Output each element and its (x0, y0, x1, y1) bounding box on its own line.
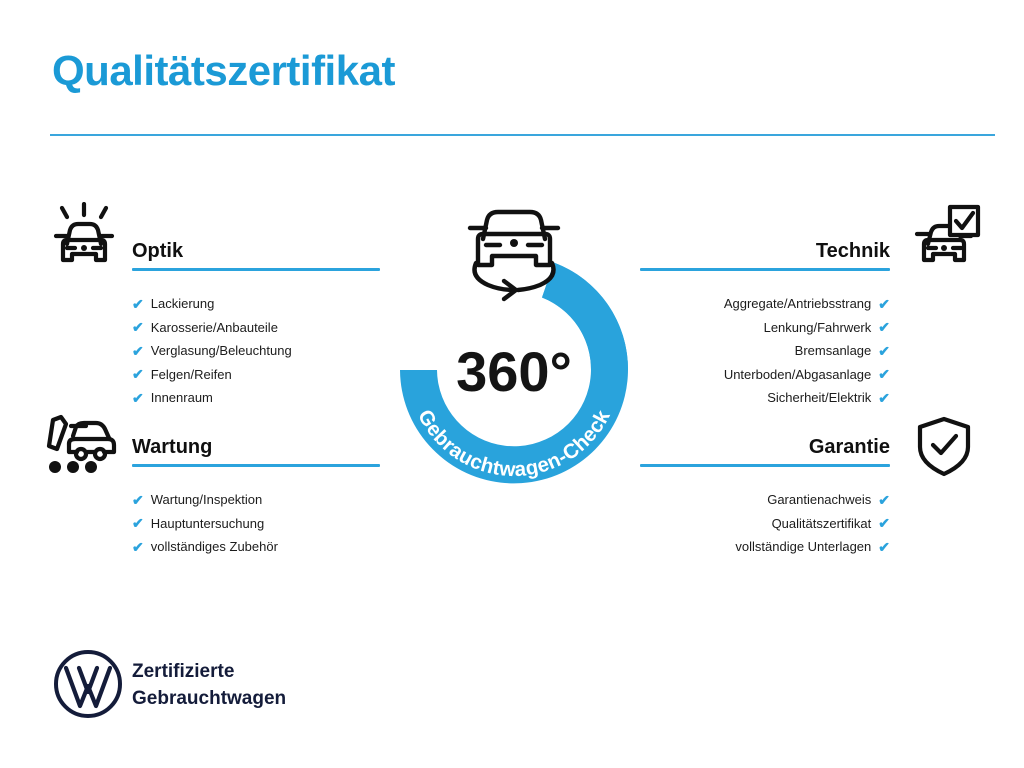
footer-line-1: Zertifizierte (132, 658, 286, 685)
list-item-label: Qualitätszertifikat (772, 512, 872, 536)
section-garantie-title: Garantie (640, 434, 890, 460)
car-checkbox-icon (908, 202, 984, 279)
list-item: ✔ Lackierung (132, 292, 380, 316)
list-item-label: Aggregate/Antriebsstrang (724, 292, 871, 316)
list-item: Garantienachweis ✔ (640, 488, 890, 512)
check-icon: ✔ (132, 320, 144, 334)
list-item: Bremsanlage ✔ (640, 339, 890, 363)
section-technik-title: Technik (640, 238, 890, 264)
list-item: ✔ Felgen/Reifen (132, 363, 380, 387)
list-item: Qualitätszertifikat ✔ (640, 512, 890, 536)
section-optik: Optik ✔ Lackierung ✔ Karosserie/Anbautei… (132, 238, 380, 426)
section-wartung-divider (132, 464, 380, 467)
section-technik: Technik Aggregate/Antriebsstrang ✔ Lenku… (640, 238, 890, 426)
check-icon: ✔ (878, 516, 890, 530)
list-item-label: Verglasung/Beleuchtung (151, 339, 292, 363)
check-icon: ✔ (878, 320, 890, 334)
section-wartung-list: ✔ Wartung/Inspektion ✔ Hauptuntersuchung… (132, 488, 380, 559)
check-icon: ✔ (878, 367, 890, 381)
section-technik-list: Aggregate/Antriebsstrang ✔ Lenkung/Fahrw… (640, 292, 890, 410)
section-optik-divider (132, 268, 380, 271)
list-item-label: Felgen/Reifen (151, 363, 232, 387)
check-icon: ✔ (132, 540, 144, 554)
page-title: Qualitätszertifikat (52, 50, 395, 92)
certificate-page: Qualitätszertifikat (0, 0, 1024, 768)
list-item: ✔ Innenraum (132, 386, 380, 410)
car-shine-icon (46, 202, 122, 279)
section-technik-divider (640, 268, 890, 271)
check-icon: ✔ (132, 391, 144, 405)
list-item: ✔ vollständiges Zubehör (132, 535, 380, 559)
vw-logo-icon (52, 648, 124, 720)
badge-center-label: 360° (456, 340, 572, 403)
check-icon: ✔ (132, 493, 144, 507)
list-item-label: Unterboden/Abgasanlage (724, 363, 871, 387)
section-garantie-divider (640, 464, 890, 467)
check-icon: ✔ (132, 297, 144, 311)
section-optik-header: Optik (132, 238, 380, 278)
section-garantie-list: Garantienachweis ✔ Qualitätszertifikat ✔… (640, 488, 890, 559)
section-technik-header: Technik (640, 238, 890, 278)
title-divider (50, 134, 995, 136)
list-item: ✔ Hauptuntersuchung (132, 512, 380, 536)
list-item-label: Innenraum (151, 386, 213, 410)
footer-line-2: Gebrauchtwagen (132, 685, 286, 712)
section-wartung-header: Wartung (132, 434, 380, 474)
check-icon: ✔ (878, 297, 890, 311)
list-item: ✔ Verglasung/Beleuchtung (132, 339, 380, 363)
check-icon: ✔ (132, 516, 144, 530)
car-rotation-icon (448, 193, 580, 305)
list-item: Lenkung/Fahrwerk ✔ (640, 316, 890, 340)
list-item-label: Bremsanlage (795, 339, 872, 363)
footer-text: Zertifizierte Gebrauchtwagen (132, 658, 286, 712)
check-icon: ✔ (878, 493, 890, 507)
list-item: Aggregate/Antriebsstrang ✔ (640, 292, 890, 316)
list-item-label: Hauptuntersuchung (151, 512, 264, 536)
list-item: ✔ Wartung/Inspektion (132, 488, 380, 512)
list-item-label: Lenkung/Fahrwerk (764, 316, 872, 340)
section-wartung-title: Wartung (132, 434, 380, 460)
list-item-label: Lackierung (151, 292, 215, 316)
shield-check-icon (912, 414, 976, 483)
list-item: Sicherheit/Elektrik ✔ (640, 386, 890, 410)
check-icon: ✔ (878, 540, 890, 554)
list-item-label: Garantienachweis (767, 488, 871, 512)
list-item-label: vollständige Unterlagen (735, 535, 871, 559)
list-item: vollständige Unterlagen ✔ (640, 535, 890, 559)
check-icon: ✔ (878, 391, 890, 405)
list-item-label: Karosserie/Anbauteile (151, 316, 278, 340)
list-item-label: Sicherheit/Elektrik (767, 386, 871, 410)
list-item: ✔ Karosserie/Anbauteile (132, 316, 380, 340)
list-item-label: Wartung/Inspektion (151, 488, 263, 512)
section-optik-list: ✔ Lackierung ✔ Karosserie/Anbauteile ✔ V… (132, 292, 380, 410)
section-wartung: Wartung ✔ Wartung/Inspektion ✔ Hauptunte… (132, 434, 380, 575)
section-optik-title: Optik (132, 238, 380, 264)
list-item: Unterboden/Abgasanlage ✔ (640, 363, 890, 387)
section-garantie: Garantie Garantienachweis ✔ Qualitätszer… (640, 434, 890, 575)
car-service-tool-icon (42, 414, 122, 481)
check-icon: ✔ (132, 367, 144, 381)
section-garantie-header: Garantie (640, 434, 890, 474)
check-icon: ✔ (878, 344, 890, 358)
check-icon: ✔ (132, 344, 144, 358)
list-item-label: vollständiges Zubehör (151, 535, 278, 559)
